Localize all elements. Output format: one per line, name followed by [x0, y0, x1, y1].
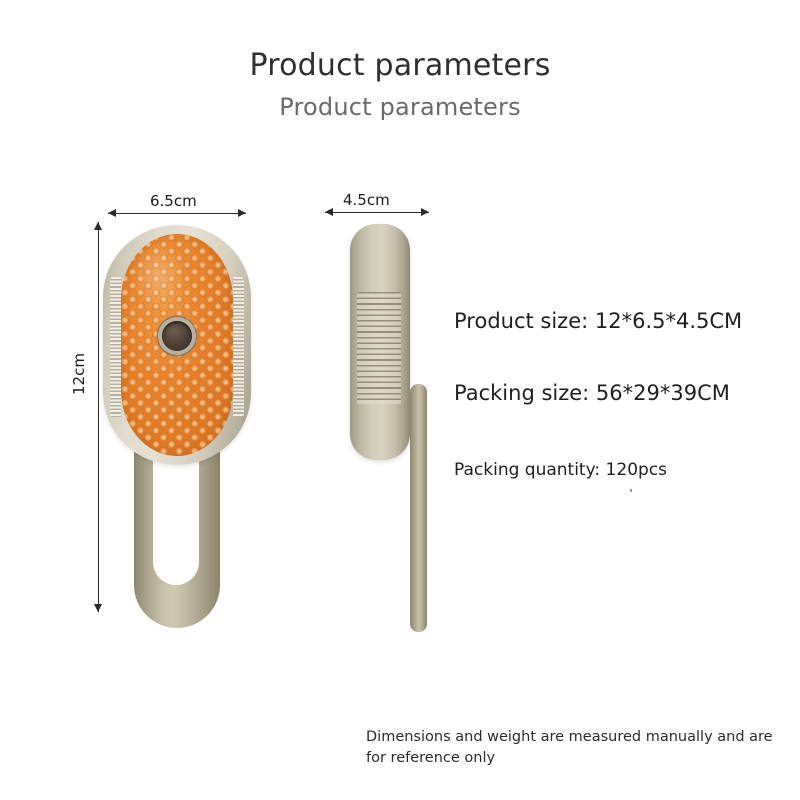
image-artifact-dot — [630, 489, 632, 492]
side-body-shell — [350, 224, 410, 460]
arrow-line — [108, 213, 246, 214]
center-spray-hole — [162, 321, 192, 351]
pad-highlight — [132, 243, 184, 310]
arrow-line — [325, 212, 429, 213]
dimension-label-width-side: 4.5cm — [343, 191, 390, 209]
dimension-label-height: 12cm — [70, 353, 88, 395]
comb-teeth-left — [110, 277, 121, 417]
dimension-arrow-width-front — [108, 209, 246, 218]
spec-product-size: Product size: 12*6.5*4.5CM — [454, 309, 742, 333]
product-front-view — [103, 225, 251, 630]
arrow-head-right-icon — [421, 208, 429, 216]
arrow-head-top-icon — [94, 222, 102, 230]
disclaimer-note: Dimensions and weight are measured manua… — [366, 727, 786, 769]
product-side-view — [322, 224, 432, 634]
side-handle — [410, 384, 427, 632]
dimension-arrow-width-side — [325, 208, 429, 217]
comb-teeth-right — [233, 277, 244, 417]
arrow-head-left-icon — [108, 209, 116, 217]
dimension-label-width-front: 6.5cm — [150, 192, 197, 210]
arrow-head-bottom-icon — [94, 604, 102, 612]
page-subtitle: Product parameters — [0, 93, 800, 121]
side-grip-ridges — [357, 292, 401, 404]
spec-packing-size: Packing size: 56*29*39CM — [454, 381, 730, 405]
product-parameters-page: Product parameters Product parameters 6.… — [0, 0, 800, 800]
side-bristles-taper — [322, 232, 353, 450]
arrow-head-left-icon — [325, 208, 333, 216]
arrow-head-right-icon — [238, 209, 246, 217]
page-title: Product parameters — [0, 48, 800, 83]
arrow-line — [98, 222, 99, 612]
spec-packing-quantity: Packing quantity: 120pcs — [454, 460, 667, 480]
dimension-arrow-height — [94, 222, 103, 612]
front-body-shell — [103, 225, 251, 465]
